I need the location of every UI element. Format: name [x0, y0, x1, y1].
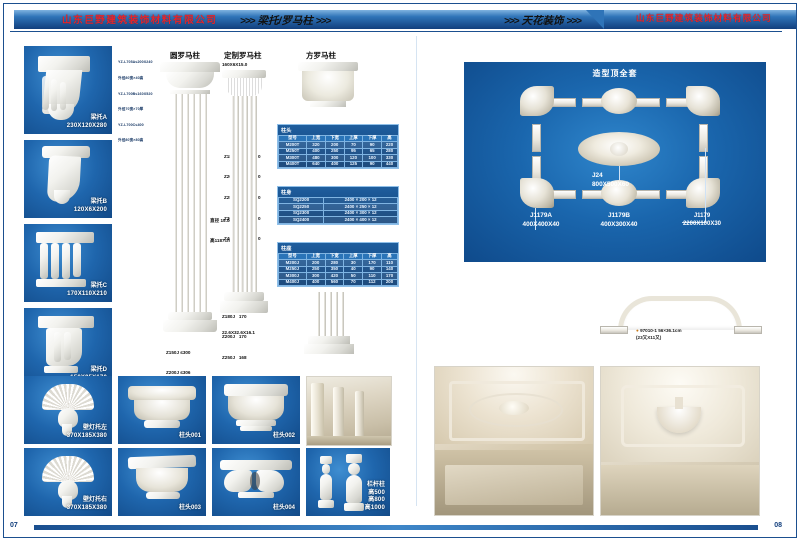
custom-column-abacus	[222, 70, 266, 78]
page-number-left: 07	[10, 522, 18, 529]
page-spine	[416, 36, 417, 506]
square-column-base	[304, 344, 354, 354]
square-column-abacus	[298, 62, 358, 71]
category-label-right: 天花装饰	[521, 15, 563, 27]
product-tile-bracket-d[interactable]: 梁托D 150X95X170	[24, 308, 112, 386]
table-header-row: 型号 上宽 下宽 上厚 下厚 高	[279, 135, 398, 142]
square-column-capital	[302, 71, 354, 101]
round-column-echinus	[166, 72, 214, 88]
category-title-left: >>> 梁托/罗马柱 >>>	[240, 13, 330, 28]
footer-bar	[34, 525, 758, 530]
column-title-round: 圆罗马柱	[170, 50, 200, 61]
ceiling-set-title: 造型顶全套	[464, 68, 766, 79]
table-row: M250J 250 350 40 90 140	[279, 266, 398, 273]
product-tile-capital-002[interactable]: 柱头002	[212, 376, 300, 444]
arch-label: ● 97010-1 56×36.1cm (23又X11又)	[636, 328, 682, 342]
page-header: 山东巨野建筑装饰材料有限公司 山东巨野建筑装饰材料有限公司 >>> 梁托/罗马柱…	[4, 4, 796, 34]
catalog-page: 山东巨野建筑装饰材料有限公司 山东巨野建筑装饰材料有限公司 >>> 梁托/罗马柱…	[0, 0, 800, 541]
arch-curve	[618, 296, 742, 330]
table-row: M300T 480 300 120 100 330	[279, 155, 398, 162]
photo-ceiling-room-2[interactable]	[600, 366, 760, 516]
spec-table-capital-grid: 型号 上宽 下宽 上厚 下厚 高 M200T 320 200 70 90 220…	[278, 135, 398, 169]
ceiling-edge-ornament-top	[601, 88, 637, 114]
bracket-spec-block: YZ-L705A≤200X240 外径80宽×40高 YZ-L700B≤160X…	[118, 50, 153, 154]
custom-column-capital	[226, 78, 262, 96]
column-title-square: 方罗马柱	[306, 50, 336, 61]
tile-label-wall-lamp-left: 壁灯托左 370X185X380	[67, 425, 107, 440]
table-row: M400T 640 400 125 90 440	[279, 161, 398, 168]
round-column-base	[163, 320, 217, 332]
product-tile-capital-004[interactable]: 柱头004	[212, 448, 300, 516]
spec-table-base-caption: 柱座	[278, 243, 398, 253]
leader-line-edge-v	[705, 148, 706, 222]
product-tile-capital-003[interactable]: 柱头003	[118, 448, 206, 516]
product-tile-wall-lamp-right[interactable]: 壁灯托右 370X185X380	[24, 448, 112, 516]
square-column-shaft	[314, 292, 344, 336]
ceiling-molding-left-1	[532, 124, 541, 152]
table-row: SQ2300 2400 × 300 × 12	[279, 210, 398, 217]
tile-label-wall-lamp-right: 壁灯托右 370X185X380	[67, 497, 107, 512]
photo-interior-columns[interactable]	[306, 376, 392, 446]
arch-leg-left	[600, 326, 628, 334]
table-row: SQ2200 2400 × 200 × 12	[279, 197, 398, 204]
chevron-left-icon: >>>	[240, 16, 255, 27]
round-column-abacus	[160, 62, 220, 72]
category-label-left: 梁托/罗马柱	[257, 15, 312, 27]
round-column-shaft	[172, 94, 208, 312]
tile-label-bracket-c: 梁托C 170X110X210	[67, 283, 107, 298]
product-tile-bracket-b[interactable]: 梁托B 120X6X200	[24, 140, 112, 218]
table-row: M400J 400 560 70 112 200	[279, 279, 398, 286]
ceiling-label-line: J1179 2200X100X30	[650, 212, 754, 228]
tile-label-capital-001: 柱头001	[179, 433, 201, 441]
chevron-right-icon: >>>	[316, 16, 331, 27]
table-row: SQ2250 2400 × 250 × 12	[279, 204, 398, 211]
page-number-right: 08	[774, 522, 782, 529]
arch-leg-right	[734, 326, 762, 334]
table-row: SQ2400 2400 × 400 × 12	[279, 217, 398, 224]
company-name-left: 山东巨野建筑装饰材料有限公司	[62, 12, 217, 26]
page-footer: 07 08	[10, 521, 782, 533]
product-tile-capital-001[interactable]: 柱头001	[118, 376, 206, 444]
ceiling-label-center: J24 800X500X60	[592, 172, 629, 189]
spec-table-shaft[interactable]: 柱身 SQ2200 2400 × 200 × 12 SQ2250 2400 × …	[277, 186, 399, 225]
tile-label-capital-003: 柱头003	[179, 505, 201, 513]
tile-label-bracket-a: 梁托A 230X120X280	[67, 115, 107, 130]
product-tile-wall-lamp-left[interactable]: 壁灯托左 370X185X380	[24, 376, 112, 444]
ceiling-corner-ornament-bl	[520, 178, 554, 208]
ceiling-center-medallion-core	[610, 142, 628, 156]
spec-table-capital-caption: 柱头	[278, 125, 398, 135]
product-tile-bracket-c[interactable]: 梁托C 170X110X210	[24, 224, 112, 302]
column-subtitle-custom: 160X6X15.0	[222, 62, 247, 67]
tile-label-capital-002: 柱头002	[273, 433, 295, 441]
square-column-base-top	[308, 336, 350, 344]
spec-table-base-grid: 型号 上宽 下宽 上厚 下厚 高 M200J 200 280 30 170 11…	[278, 253, 398, 287]
ceiling-corner-ornament-br	[686, 178, 720, 208]
spec-table-shaft-caption: 柱身	[278, 187, 398, 197]
arch-molding-group[interactable]: ● 97010-1 56×36.1cm (23又X11又)	[600, 288, 760, 348]
product-tile-baluster[interactable]: 栏杆柱 高500 高800 高1000	[306, 448, 390, 516]
tile-label-capital-004: 柱头004	[273, 505, 295, 513]
product-tile-bracket-a[interactable]: 梁托A 230X120X280	[24, 46, 112, 134]
table-row: M200J 200 280 30 170 110	[279, 260, 398, 267]
column-title-custom: 定制罗马柱	[224, 50, 262, 61]
spec-table-capital[interactable]: 柱头 型号 上宽 下宽 上厚 下厚 高 M200T 320 200 70 90 …	[277, 124, 399, 169]
tile-label-baluster: 栏杆柱 高500 高800 高1000	[365, 482, 385, 512]
chevron-left-icon-2: >>>	[504, 16, 519, 27]
spec-table-shaft-grid: SQ2200 2400 × 200 × 12 SQ2250 2400 × 250…	[278, 197, 398, 224]
company-name-right: 山东巨野建筑装饰材料有限公司	[636, 12, 772, 24]
header-divider	[10, 31, 782, 32]
tile-label-bracket-b: 梁托B 120X6X200	[74, 199, 107, 214]
custom-column-shaft	[230, 96, 258, 292]
table-row: M300J 300 420 50 110 170	[279, 273, 398, 280]
square-column-neck	[310, 101, 346, 107]
custom-column-bottom-dim: 22.6X32.6X16.1	[222, 330, 255, 335]
chevron-right-icon-2: >>>	[566, 16, 581, 27]
ceiling-set-panel[interactable]: 造型顶全套 J24 800X500X60	[464, 62, 766, 262]
round-column-base-top	[168, 312, 212, 320]
ceiling-label-corner: J1179A 400X400X40	[498, 212, 584, 229]
ceiling-corner-ornament-tl	[520, 86, 554, 116]
table-row: M200T 320 200 70 90 220	[279, 142, 398, 149]
category-title-right: >>> 天花装饰 >>>	[504, 13, 581, 28]
table-row: M250T 400 250 95 65 280	[279, 148, 398, 155]
ceiling-corner-ornament-tr	[686, 86, 720, 116]
spec-table-base[interactable]: 柱座 型号 上宽 下宽 上厚 下厚 高 M200J 200 280 30 170…	[277, 242, 399, 287]
table-header-row: 型号 上宽 下宽 上厚 下厚 高	[279, 253, 398, 260]
ceiling-molding-right-1	[699, 124, 708, 152]
photo-ceiling-room-1[interactable]	[434, 366, 594, 516]
